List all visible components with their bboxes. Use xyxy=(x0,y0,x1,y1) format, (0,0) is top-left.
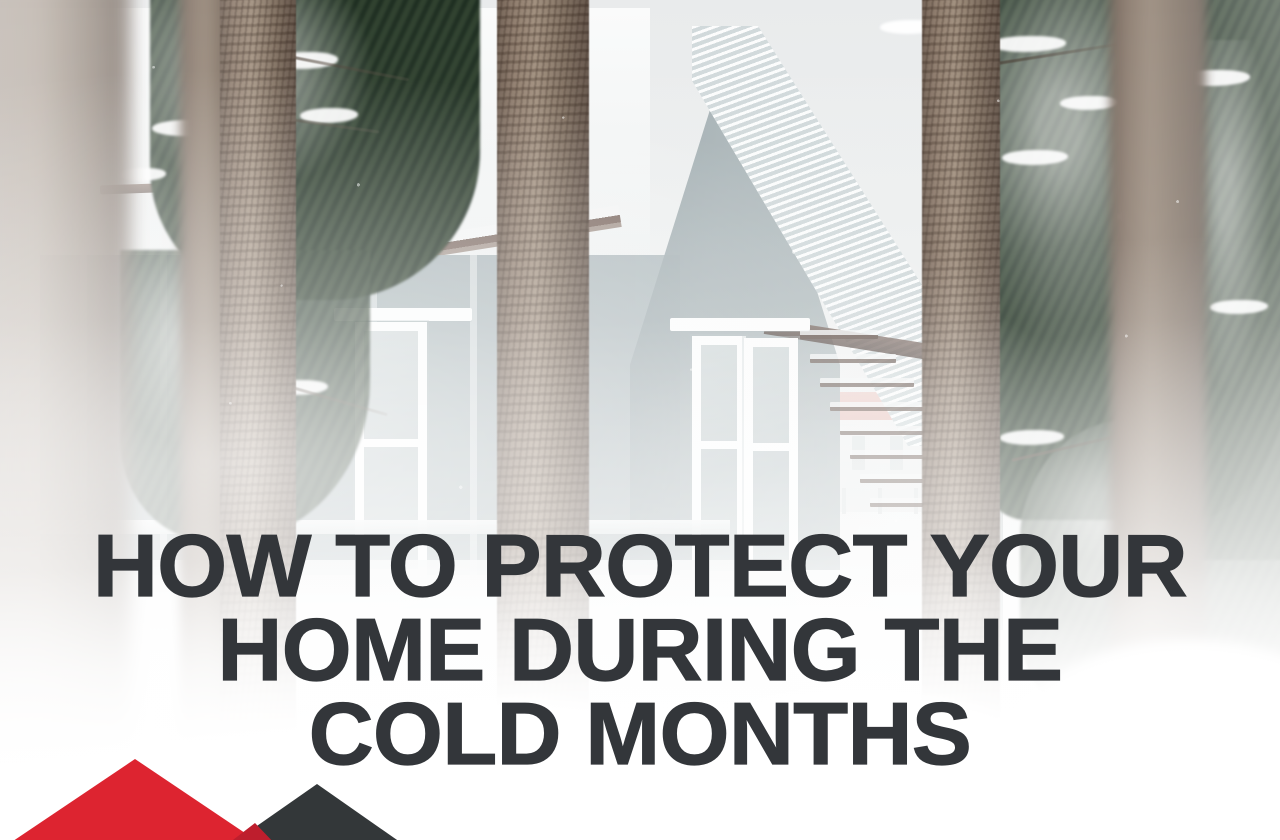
mountain-peaks-logo xyxy=(0,748,440,840)
logo-svg xyxy=(0,748,440,840)
headline-line-2: HOME DURING THE xyxy=(0,608,1280,692)
headline-line-1: HOW TO PROTECT YOUR xyxy=(0,524,1280,608)
page-title: HOW TO PROTECT YOUR HOME DURING THE COLD… xyxy=(0,524,1280,776)
winter-home-protection-poster: HOW TO PROTECT YOUR HOME DURING THE COLD… xyxy=(0,0,1280,840)
